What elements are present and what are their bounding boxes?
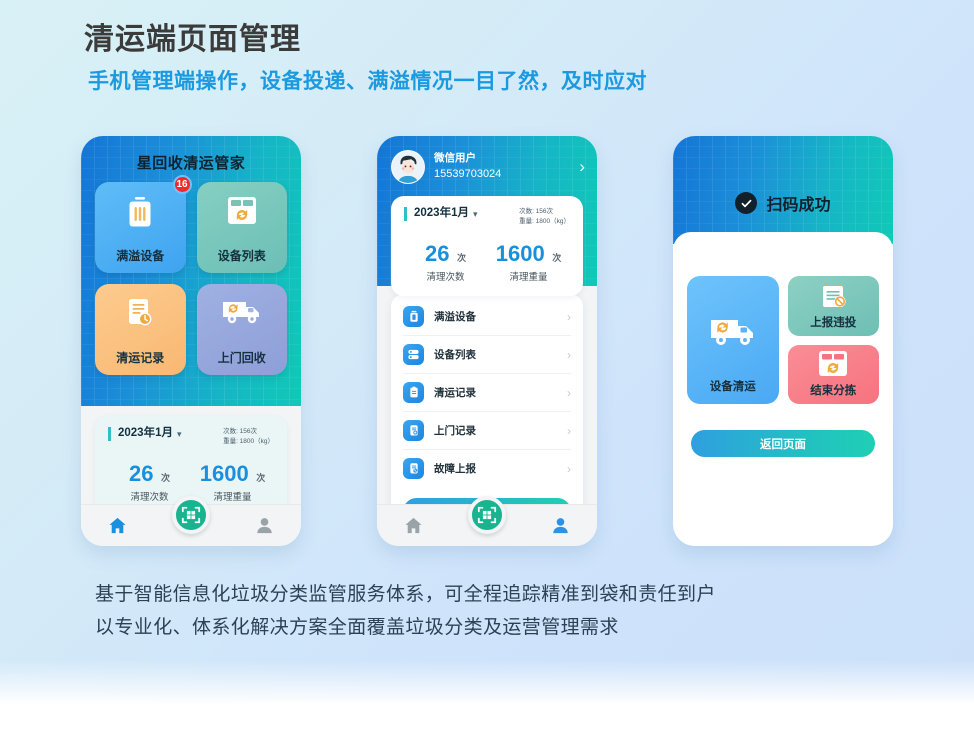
trash-bin-icon (95, 195, 186, 229)
user-phone: 15539703024 (434, 167, 501, 183)
scan-status-label: 扫码成功 (766, 191, 830, 215)
phone1-header: 星回收清运管家 16 满溢设备 (81, 136, 301, 406)
fault-report-icon (403, 458, 424, 479)
user-info: 微信用户 15539703024 (434, 151, 501, 182)
chevron-right-icon: › (567, 386, 571, 400)
tile-transport-records[interactable]: 清运记录 (95, 284, 186, 375)
meta-count: 次数: 156次 (223, 427, 274, 437)
qr-scan-icon (181, 505, 201, 525)
scan-action-grid: 设备清运 上报违投 (687, 276, 879, 404)
mosaic-overlay (673, 136, 893, 244)
page-title: 清运端页面管理 (84, 14, 301, 58)
stat-values: 26 次 清理次数 1600 次 清理重量 (404, 241, 570, 283)
stat-unit: 次 (457, 253, 466, 263)
menu-item-visit-records[interactable]: 上门记录 › (403, 412, 571, 450)
truck-recycle-icon (197, 297, 288, 327)
meta-weight: 重量: 1800（kg） (519, 217, 570, 227)
tab-profile[interactable] (242, 511, 286, 541)
action-label: 设备清运 (710, 378, 756, 394)
person-icon (551, 516, 570, 535)
menu-item-label: 满溢设备 (434, 309, 476, 324)
tile-door-pickup[interactable]: 上门回收 (197, 284, 288, 375)
stat-card-header: 2023年1月 ▾ 次数: 156次 重量: 1800（kg） (404, 207, 570, 227)
menu-item-fault-report[interactable]: 故障上报 › (403, 450, 571, 487)
stat-clean-weight: 1600 次 清理重量 (487, 241, 570, 283)
tile-device-list[interactable]: 设备列表 (197, 182, 288, 273)
phone-mockup-home: 星回收清运管家 16 满溢设备 (81, 136, 301, 546)
menu-item-overflow-devices[interactable]: 满溢设备 › (403, 298, 571, 336)
month-selector[interactable]: 2023年1月 ▾ (404, 207, 478, 221)
phone-mockup-scan-result: 扫码成功 设备清运 (673, 136, 893, 546)
user-name: 微信用户 (434, 151, 501, 166)
menu-item-label: 设备列表 (434, 347, 476, 362)
chevron-right-icon[interactable]: › (579, 157, 585, 177)
tab-home[interactable] (96, 511, 140, 541)
tab-home[interactable] (392, 511, 436, 541)
document-clock-icon (95, 297, 186, 329)
scan-action-sheet: 设备清运 上报违投 (673, 232, 893, 546)
home-icon (108, 516, 127, 535)
action-label: 结束分拣 (810, 382, 856, 398)
scan-status-row: 扫码成功 (673, 191, 893, 215)
back-to-page-button[interactable]: 返回页面 (691, 430, 875, 457)
stat-caption: 清理次数 (404, 269, 487, 283)
home-tile-grid: 16 满溢设备 设备列表 (95, 182, 287, 375)
menu-item-label: 清运记录 (434, 385, 476, 400)
action-device-transport[interactable]: 设备清运 (687, 276, 779, 404)
stat-unit: 次 (256, 473, 265, 483)
phone3-header (673, 136, 893, 244)
phone-mockup-profile: 微信用户 15539703024 › 2023年1月 ▾ 次数: 156次 重量… (377, 136, 597, 546)
qr-scan-icon (477, 505, 497, 525)
meta-weight: 重量: 1800（kg） (223, 437, 274, 447)
stat-unit: 次 (552, 253, 561, 263)
chevron-right-icon: › (567, 348, 571, 362)
phone2-tabbar (377, 504, 597, 546)
chevron-right-icon: › (567, 462, 571, 476)
meta-count: 次数: 156次 (519, 207, 570, 217)
statistics-card: 2023年1月 ▾ 次数: 156次 重量: 1800（kg） 26 次 清理次… (391, 196, 583, 296)
bottom-fade (0, 660, 974, 732)
footer-line-1: 基于智能信息化垃圾分类监管服务体系，可全程追踪精准到袋和责任到户 (95, 578, 885, 611)
month-label: 2023年1月 (118, 427, 173, 441)
chevron-down-icon: ▾ (177, 429, 182, 440)
footer-description: 基于智能信息化垃圾分类监管服务体系，可全程追踪精准到袋和责任到户 以专业化、体系… (95, 578, 885, 645)
stat-clean-count: 26 次 清理次数 (108, 461, 191, 503)
report-violation-icon (788, 280, 880, 312)
tile-label: 清运记录 (116, 349, 164, 366)
tile-label: 满溢设备 (116, 247, 164, 264)
user-profile-row[interactable]: 微信用户 15539703024 › (391, 150, 585, 184)
phone1-tabbar (81, 504, 301, 546)
device-recycle-icon (197, 195, 288, 227)
stat-value: 1600 (496, 241, 545, 266)
stat-meta: 次数: 156次 重量: 1800（kg） (223, 427, 274, 447)
truck-recycle-icon (687, 314, 779, 348)
chevron-down-icon: ▾ (473, 209, 478, 220)
status-badge: 16 (173, 175, 192, 194)
check-circle-icon (735, 192, 757, 214)
chevron-right-icon: › (567, 310, 571, 324)
page-subtitle: 手机管理端操作，设备投递、满溢情况一目了然，及时应对 (88, 65, 647, 95)
visit-record-icon (403, 420, 424, 441)
action-label: 上报违投 (810, 314, 856, 330)
avatar (391, 150, 425, 184)
footer-line-2: 以专业化、体系化解决方案全面覆盖垃圾分类及运营管理需求 (95, 611, 885, 644)
stat-value: 1600 (200, 461, 249, 486)
tile-label: 上门回收 (218, 349, 266, 366)
month-selector[interactable]: 2023年1月 ▾ (108, 427, 182, 441)
person-icon (255, 516, 274, 535)
clipboard-icon (403, 382, 424, 403)
stat-unit: 次 (161, 473, 170, 483)
scan-fab-button[interactable] (172, 496, 210, 534)
action-finish-sorting[interactable]: 结束分拣 (788, 345, 880, 405)
stat-value: 26 (129, 461, 153, 486)
home-icon (404, 516, 423, 535)
bin-icon (403, 306, 424, 327)
stat-clean-weight: 1600 次 清理重量 (191, 461, 274, 503)
chevron-right-icon: › (567, 424, 571, 438)
stat-clean-count: 26 次 清理次数 (404, 241, 487, 283)
menu-item-transport-records[interactable]: 清运记录 › (403, 374, 571, 412)
tile-overflow-devices[interactable]: 16 满溢设备 (95, 182, 186, 273)
menu-item-label: 故障上报 (434, 461, 476, 476)
menu-item-label: 上门记录 (434, 423, 476, 438)
device-list-icon (403, 344, 424, 365)
month-label: 2023年1月 (414, 207, 469, 221)
action-report-violation[interactable]: 上报违投 (788, 276, 880, 336)
menu-item-device-list[interactable]: 设备列表 › (403, 336, 571, 374)
tab-profile[interactable] (538, 511, 582, 541)
sorting-done-icon (788, 349, 880, 379)
stat-meta: 次数: 156次 重量: 1800（kg） (519, 207, 570, 227)
scan-fab-button[interactable] (468, 496, 506, 534)
stat-card-header: 2023年1月 ▾ 次数: 156次 重量: 1800（kg） (108, 427, 274, 447)
stat-caption: 清理重量 (487, 269, 570, 283)
app-title: 星回收清运管家 (81, 152, 301, 173)
tile-label: 设备列表 (218, 247, 266, 264)
stat-value: 26 (425, 241, 449, 266)
